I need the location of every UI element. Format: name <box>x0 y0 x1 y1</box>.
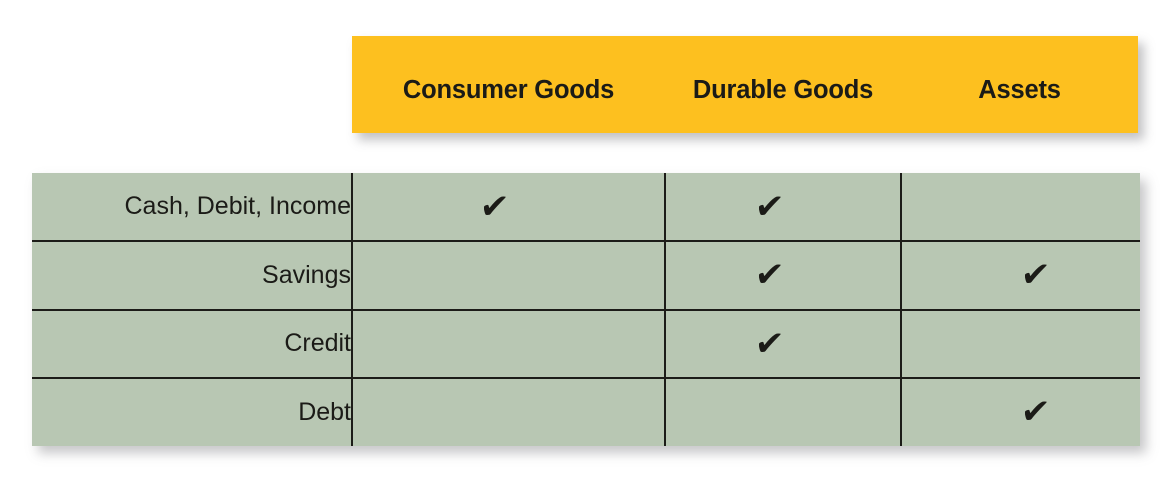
cell-cash-debit-income-durable-goods: ✔ <box>665 173 901 241</box>
cell-savings-durable-goods: ✔ <box>665 241 901 309</box>
cell-credit-assets <box>901 310 1140 378</box>
matrix-table-panel: Cash, Debit, Income ✔ ✔ Savings <box>32 173 1140 446</box>
check-icon: ✔ <box>753 190 785 224</box>
check-icon: ✔ <box>1019 395 1051 429</box>
cell-cash-debit-income-consumer-goods: ✔ <box>352 173 665 241</box>
cell-savings-assets: ✔ <box>901 241 1140 309</box>
row-label-cash-debit-income: Cash, Debit, Income <box>32 173 352 241</box>
cell-credit-consumer-goods <box>352 310 665 378</box>
matrix-table: Cash, Debit, Income ✔ ✔ Savings <box>32 173 1140 446</box>
column-header-assets: Assets <box>901 36 1138 133</box>
row-label-savings: Savings <box>32 241 352 309</box>
cell-cash-debit-income-assets <box>901 173 1140 241</box>
matrix-figure: Consumer Goods Durable Goods Assets Cash… <box>0 0 1175 485</box>
row-label-credit: Credit <box>32 310 352 378</box>
column-header-bar: Consumer Goods Durable Goods Assets <box>352 36 1138 133</box>
table-row: Credit ✔ <box>32 310 1140 378</box>
cell-debt-consumer-goods <box>352 378 665 446</box>
table-row: Debt ✔ <box>32 378 1140 446</box>
cell-credit-durable-goods: ✔ <box>665 310 901 378</box>
table-row: Savings ✔ ✔ <box>32 241 1140 309</box>
column-header-consumer-goods: Consumer Goods <box>352 36 665 133</box>
cell-debt-assets: ✔ <box>901 378 1140 446</box>
cell-savings-consumer-goods <box>352 241 665 309</box>
check-icon: ✔ <box>753 327 785 361</box>
check-icon: ✔ <box>753 258 785 292</box>
check-icon: ✔ <box>1019 258 1051 292</box>
column-header-durable-goods: Durable Goods <box>665 36 901 133</box>
table-row: Cash, Debit, Income ✔ ✔ <box>32 173 1140 241</box>
row-label-debt: Debt <box>32 378 352 446</box>
cell-debt-durable-goods <box>665 378 901 446</box>
check-icon: ✔ <box>478 190 510 224</box>
